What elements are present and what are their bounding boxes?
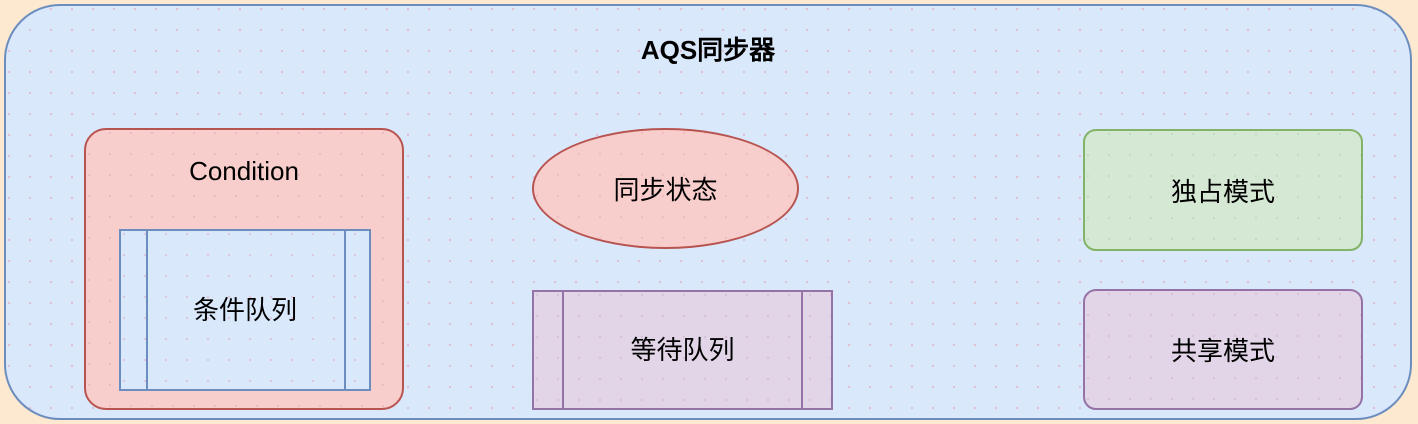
exclusive-mode-node[interactable]: 独占模式 — [1083, 129, 1363, 251]
wait-queue-label: 等待队列 — [630, 336, 734, 365]
wait-queue-right-divider — [801, 292, 803, 408]
condition-queue-node[interactable]: 条件队列 — [119, 229, 371, 391]
shared-mode-label: 共享模式 — [1171, 331, 1275, 368]
condition-queue-label: 条件队列 — [193, 296, 297, 325]
diagram-canvas: AQS同步器 Condition 条件队列 同步状态 等待队列 独占模式 共享模… — [0, 0, 1418, 424]
condition-queue-left-divider — [146, 231, 148, 389]
diagram-title: AQS同步器 — [6, 30, 1410, 67]
wait-queue-node[interactable]: 等待队列 — [532, 290, 833, 410]
condition-queue-right-divider — [344, 231, 346, 389]
wait-queue-left-divider — [562, 292, 564, 408]
exclusive-mode-label: 独占模式 — [1171, 172, 1275, 209]
shared-mode-node[interactable]: 共享模式 — [1083, 289, 1363, 410]
aqs-synchronizer-container: AQS同步器 Condition 条件队列 同步状态 等待队列 独占模式 共享模… — [4, 4, 1412, 420]
sync-state-label: 同步状态 — [613, 170, 717, 207]
sync-state-node[interactable]: 同步状态 — [532, 128, 799, 249]
condition-group-label: Condition — [86, 156, 402, 187]
